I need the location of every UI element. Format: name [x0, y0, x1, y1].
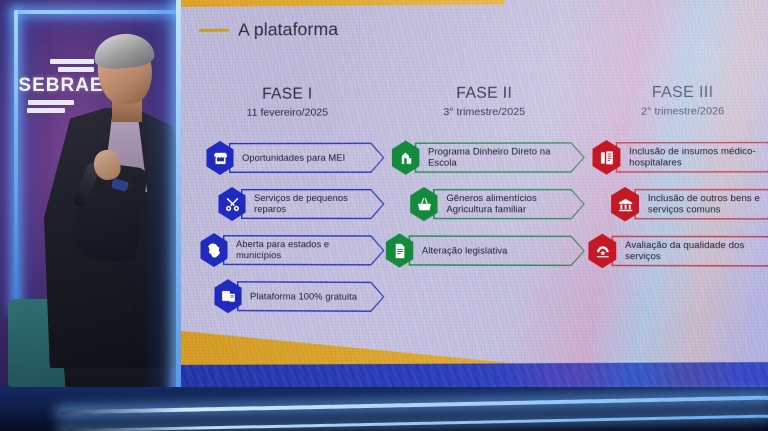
phase-3-header: FASE III 2° trimestre/2026	[585, 83, 768, 117]
item-arrow: Serviços de pequenos reparos	[241, 189, 384, 219]
phase-column-3: FASE III 2° trimestre/2026	[585, 83, 768, 322]
item-icon-hex	[199, 233, 229, 267]
phase-1-name: FASE I	[191, 85, 384, 104]
item-icon-hex	[591, 140, 622, 175]
item-icon-hex	[390, 140, 420, 174]
speaker-person	[20, 34, 190, 431]
neon-strip-left	[14, 10, 18, 310]
phase-item[interactable]: Plataforma 100% gratuita	[213, 273, 384, 320]
phase-column-2: FASE II 3° trimestre/2025	[384, 84, 584, 321]
item-arrow: Programa Dinheiro Direto na Escola	[415, 142, 585, 173]
phase-1-header: FASE I 11 fevereiro/2025	[191, 85, 384, 119]
phase-item-label: Aberta para estados e municípios	[223, 239, 384, 261]
phases-container: FASE I 11 fevereiro/2025	[191, 83, 768, 322]
presentation-slide: A plataforma FASE I 11 fevereiro/2025	[181, 0, 768, 395]
phase-item[interactable]: Programa Dinheiro Direto na Escola	[390, 134, 584, 181]
phase-3-items: Inclusão de insumos médico-hospitalares	[585, 134, 768, 275]
phase-item-label: Plataforma 100% gratuita	[237, 291, 373, 303]
free-platform-icon	[213, 279, 243, 313]
phase-item-label: Inclusão de outros bens e serviços comun…	[634, 193, 768, 215]
phase-3-date: 2° trimestre/2026	[585, 105, 768, 118]
phase-item[interactable]: Gêneros alimentícios Agricultura familia…	[409, 181, 585, 228]
item-arrow: Alteração legislativa	[409, 235, 585, 266]
slide-title: A plataforma	[238, 19, 338, 41]
slide-top-accent-bar	[181, 0, 505, 7]
item-arrow: Inclusão de insumos médico-hospitalares	[616, 142, 768, 173]
phase-2-date: 3° trimestre/2025	[384, 106, 584, 119]
basket-icon	[409, 187, 440, 221]
phase-1-items: Oportunidades para MEI	[191, 135, 384, 320]
phase-2-items: Programa Dinheiro Direto na Escola	[384, 134, 584, 274]
phase-item-label: Oportunidades para MEI	[229, 152, 361, 163]
item-icon-hex	[409, 187, 440, 221]
item-icon-hex	[384, 233, 414, 267]
legal-document-icon	[384, 233, 414, 267]
phase-item[interactable]: Avaliação da qualidade dos serviços	[587, 228, 768, 275]
medical-supplies-icon	[591, 140, 622, 175]
phase-item-label: Avaliação da qualidade dos serviços	[612, 240, 768, 263]
item-arrow: Aberta para estados e municípios	[223, 235, 384, 266]
brazil-map-icon	[199, 233, 229, 267]
phase-2-name: FASE II	[384, 84, 584, 103]
item-arrow: Plataforma 100% gratuita	[237, 281, 384, 312]
phase-item[interactable]: Alteração legislativa	[384, 227, 584, 274]
item-arrow: Gêneros alimentícios Agricultura familia…	[433, 189, 585, 219]
phase-item-label: Programa Dinheiro Direto na Escola	[415, 146, 585, 168]
title-dash-accent	[199, 29, 229, 32]
tools-icon	[217, 187, 247, 221]
presentation-scene: SEBRAE A plataforma	[0, 0, 768, 431]
item-icon-hex	[205, 141, 235, 175]
phase-2-header: FASE II 3° trimestre/2025	[384, 84, 584, 118]
phase-item-label: Serviços de pequenos reparos	[241, 193, 384, 215]
phase-1-date: 11 fevereiro/2025	[191, 106, 384, 119]
phase-item[interactable]: Inclusão de insumos médico-hospitalares	[591, 134, 768, 181]
item-arrow: Inclusão de outros bens e serviços comun…	[634, 189, 768, 220]
phase-item-label: Alteração legislativa	[409, 245, 524, 256]
goods-services-icon	[610, 187, 641, 222]
phase-item[interactable]: Inclusão de outros bens e serviços comun…	[610, 181, 768, 228]
phase-item[interactable]: Serviços de pequenos reparos	[217, 181, 384, 227]
storefront-icon	[205, 141, 235, 175]
slide-title-row: A plataforma	[199, 19, 338, 41]
phase-item-label: Inclusão de insumos médico-hospitalares	[616, 146, 768, 169]
item-icon-hex	[217, 187, 247, 221]
quality-rating-icon	[587, 234, 618, 269]
item-arrow: Oportunidades para MEI	[229, 143, 384, 173]
phase-column-1: FASE I 11 fevereiro/2025	[191, 85, 384, 320]
item-arrow: Avaliação da qualidade dos serviços	[612, 236, 768, 267]
phase-3-name: FASE III	[585, 83, 768, 102]
item-icon-hex	[610, 187, 641, 222]
phase-item[interactable]: Oportunidades para MEI	[205, 135, 384, 181]
phase-item[interactable]: Aberta para estados e municípios	[199, 227, 384, 274]
item-icon-hex	[213, 279, 243, 313]
item-icon-hex	[587, 234, 618, 269]
school-icon	[390, 140, 420, 174]
phase-item-label: Gêneros alimentícios Agricultura familia…	[433, 193, 585, 215]
